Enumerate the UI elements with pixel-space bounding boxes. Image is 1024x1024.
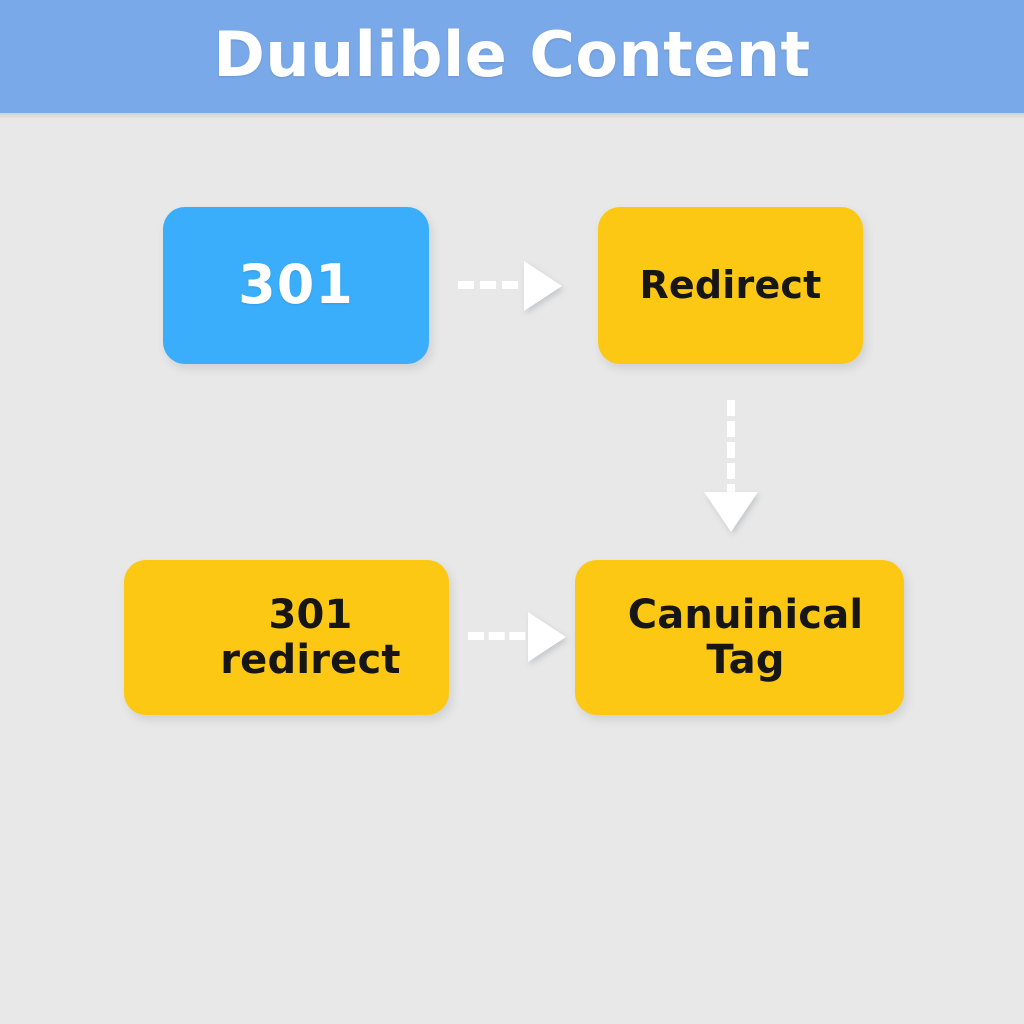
node-301-label: 301 <box>238 255 354 315</box>
diagram-canvas: Duulible Content 301 Redirect 301 redire… <box>0 0 1024 1024</box>
arrow-right-icon <box>524 261 562 311</box>
node-canonical-tag-label: Canuinical Tag <box>628 593 864 683</box>
node-canonical-tag[interactable]: Canuinical Tag <box>575 560 904 715</box>
dashed-line <box>727 400 735 500</box>
node-301[interactable]: 301 <box>163 207 429 364</box>
arrow-right-icon <box>528 612 566 662</box>
arrow-down-icon <box>704 492 758 532</box>
page-title: Duulible Content <box>213 24 810 86</box>
node-301-redirect[interactable]: 301 redirect <box>124 560 449 715</box>
node-301-redirect-label: 301 redirect <box>220 593 401 683</box>
node-redirect[interactable]: Redirect <box>598 207 863 364</box>
node-redirect-label: Redirect <box>639 264 821 307</box>
header-bar: Duulible Content <box>0 0 1024 113</box>
header-divider-shadow <box>0 113 1024 119</box>
